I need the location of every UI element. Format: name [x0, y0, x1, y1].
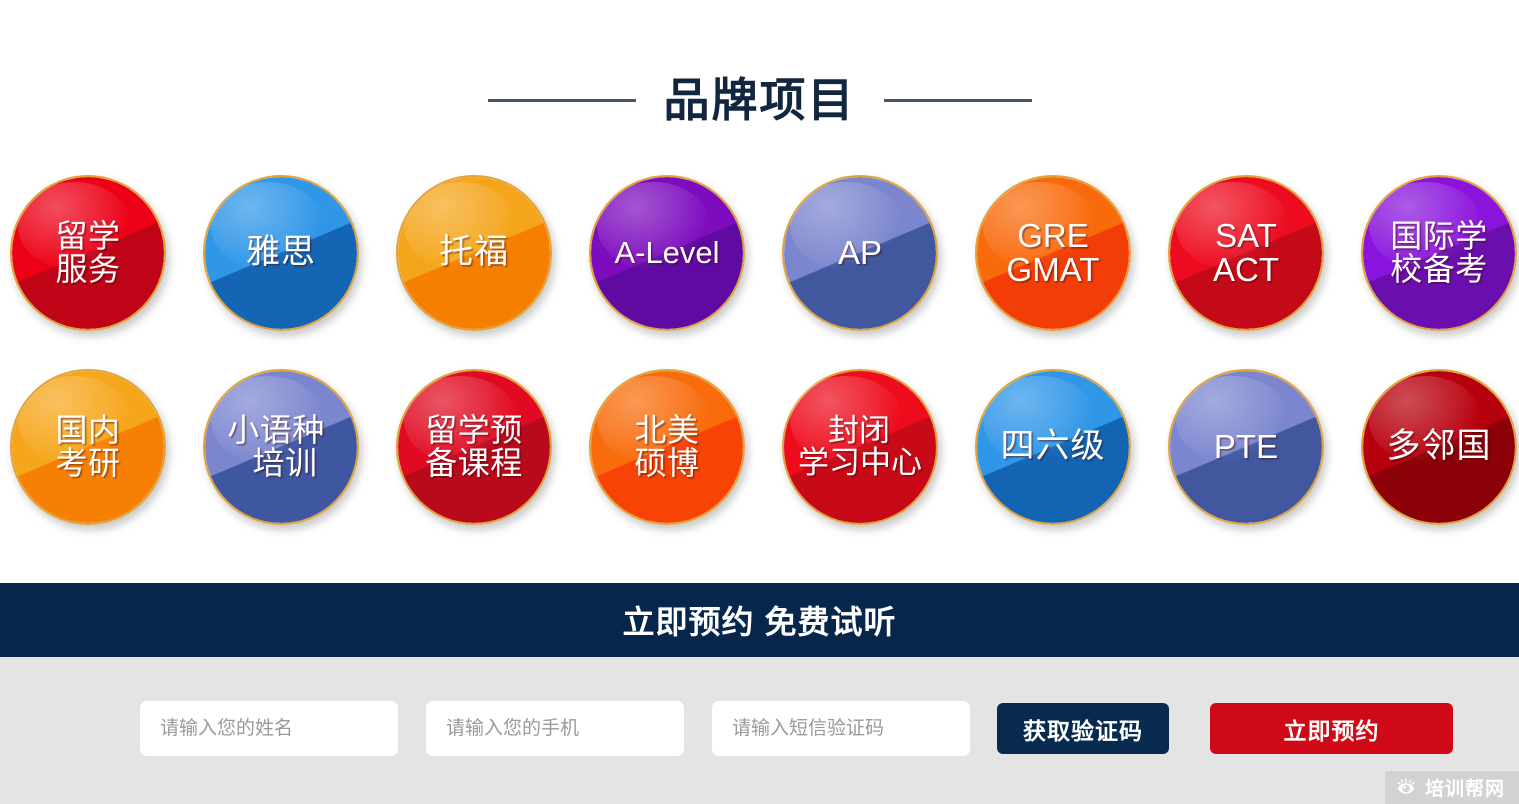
program-bubble[interactable]: AP [782, 175, 938, 331]
program-bubble-line: 四六级 [1001, 429, 1106, 464]
eye-icon [1395, 777, 1417, 799]
program-grid: 留学服务雅思托福A-LevelAPGREGMATSATACT国际学校备考 国内考… [0, 175, 1519, 525]
program-bubble-label: 小语种培训 [235, 414, 327, 481]
program-bubble-line: PTE [1214, 430, 1278, 464]
program-bubble-line: 托福 [439, 235, 509, 270]
section-title-row: 品牌项目 [0, 60, 1519, 140]
program-bubble-line: 服务 [55, 253, 120, 286]
phone-input[interactable] [426, 701, 684, 756]
program-bubble-label: 国际学校备考 [1388, 220, 1490, 287]
program-bubble[interactable]: 国内考研 [10, 369, 166, 525]
program-bubble[interactable]: 北美硕博 [589, 369, 745, 525]
program-bubble[interactable]: 雅思 [203, 175, 359, 331]
program-bubble-line: 多邻国 [1387, 429, 1492, 464]
program-bubble-label: A-Level [612, 237, 721, 269]
sms-code-input[interactable] [712, 701, 970, 756]
program-bubble[interactable]: 多邻国 [1361, 369, 1517, 525]
program-bubble-line: GMAT [1007, 253, 1100, 287]
program-bubble-label: 多邻国 [1385, 429, 1494, 464]
program-bubble-label: 留学服务 [53, 220, 122, 287]
program-bubble[interactable]: PTE [1168, 369, 1324, 525]
program-bubble-label: 四六级 [999, 429, 1108, 464]
program-bubble[interactable]: 留学预备课程 [396, 369, 552, 525]
program-bubble-line: 封闭 [796, 415, 922, 447]
program-row-1: 留学服务雅思托福A-LevelAPGREGMATSATACT国际学校备考 [0, 175, 1519, 331]
program-bubble-label: PTE [1212, 430, 1280, 464]
booking-form: 获取验证码 立即预约 [140, 701, 1453, 756]
booking-form-strip: 获取验证码 立即预约 [0, 657, 1519, 804]
program-bubble[interactable]: A-Level [589, 175, 745, 331]
program-bubble[interactable]: 封闭学习中心 [782, 369, 938, 525]
program-bubble[interactable]: 四六级 [975, 369, 1131, 525]
name-input[interactable] [140, 701, 398, 756]
site-watermark: 培训帮网 [1385, 771, 1519, 804]
program-bubble-label: 雅思 [244, 235, 318, 270]
program-bubble-line: SAT [1213, 219, 1279, 253]
booking-banner-text: 立即预约 免费试听 [623, 597, 897, 643]
program-bubble-line: A-Level [614, 237, 719, 269]
program-bubble-label: 北美硕博 [632, 414, 701, 481]
program-bubble[interactable]: GREGMAT [975, 175, 1131, 331]
program-bubble-label: 国内考研 [53, 414, 122, 481]
program-bubble-line: AP [838, 236, 882, 270]
submit-booking-button[interactable]: 立即预约 [1210, 703, 1453, 754]
brand-programs-page: 品牌项目 留学服务雅思托福A-LevelAPGREGMATSATACT国际学校备… [0, 0, 1519, 804]
program-bubble-line: 考研 [55, 447, 120, 480]
watermark-text: 培训帮网 [1425, 774, 1505, 801]
program-bubble-label: 封闭学习中心 [796, 415, 924, 479]
program-bubble-line: ACT [1213, 253, 1279, 287]
booking-banner: 立即预约 免费试听 [0, 583, 1519, 657]
program-bubble[interactable]: 托福 [396, 175, 552, 331]
program-bubble-line: 国际学 [1390, 220, 1488, 253]
program-bubble-line: 学习中心 [798, 447, 922, 479]
page-title: 品牌项目 [664, 77, 856, 123]
program-bubble-line: 留学 [55, 220, 120, 253]
program-bubble-line: GRE [1007, 219, 1100, 253]
program-bubble[interactable]: 留学服务 [10, 175, 166, 331]
program-bubble-line: 小语种 [227, 414, 325, 447]
program-bubble[interactable]: 国际学校备考 [1361, 175, 1517, 331]
program-bubble-line: 国内 [55, 414, 120, 447]
program-bubble-line: 校备考 [1390, 253, 1488, 286]
program-bubble-label: GREGMAT [1005, 219, 1102, 288]
program-bubble-line: 留学预 [425, 414, 523, 447]
program-bubble-line: 硕博 [634, 447, 699, 480]
program-bubble-label: 托福 [437, 235, 511, 270]
program-bubble[interactable]: 小语种培训 [203, 369, 359, 525]
program-bubble-label: 留学预备课程 [423, 414, 525, 481]
program-bubble[interactable]: SATACT [1168, 175, 1324, 331]
program-bubble-label: SATACT [1211, 219, 1281, 288]
program-row-2: 国内考研小语种培训留学预备课程北美硕博封闭学习中心四六级PTE多邻国 [0, 369, 1519, 525]
get-code-button[interactable]: 获取验证码 [997, 703, 1169, 754]
program-bubble-label: AP [836, 236, 884, 270]
program-bubble-line: 北美 [634, 414, 699, 447]
program-bubble-line: 培训 [245, 447, 325, 480]
title-rule-left [488, 99, 636, 102]
program-bubble-line: 雅思 [246, 235, 316, 270]
title-rule-right [884, 99, 1032, 102]
program-bubble-line: 备课程 [425, 447, 523, 480]
